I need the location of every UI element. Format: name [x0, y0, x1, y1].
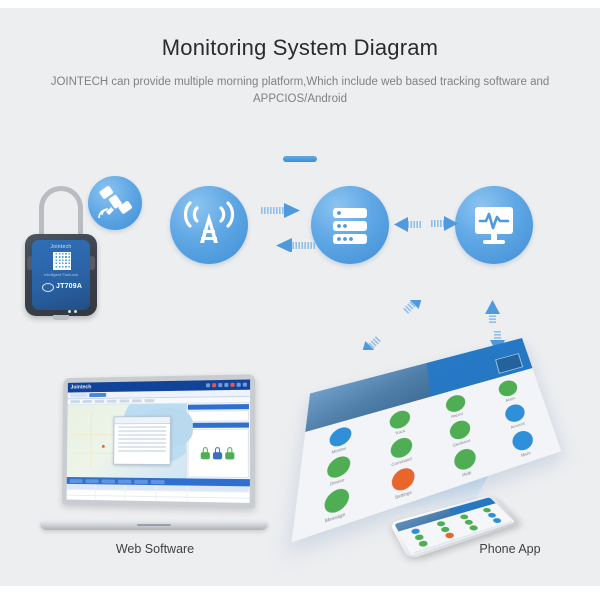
web-software-screen[interactable]: Jointech — [67, 379, 250, 502]
page-title: Monitoring System Diagram — [0, 35, 600, 61]
app-menu-icon — [510, 429, 535, 454]
padlock-base — [53, 315, 69, 320]
arrow-gsm-server-pair — [258, 200, 318, 252]
webapp-logo: Jointech — [71, 384, 92, 390]
app-menu-icon — [326, 454, 350, 481]
laptop-lid: Jointech — [62, 374, 255, 508]
status-sidebar[interactable] — [185, 403, 250, 479]
app-menu-label: Help — [462, 470, 472, 478]
node-monitor-center[interactable]: Monitor Center — [455, 186, 533, 264]
webapp-main-area — [67, 403, 250, 479]
wireless-icon — [42, 283, 54, 292]
app-menu-label: Message — [325, 512, 346, 524]
web-software-laptop: Jointech — [40, 376, 268, 534]
webapp-toolbar-icons[interactable] — [206, 383, 247, 388]
map-panel[interactable] — [67, 404, 186, 479]
app-menu-label: Report — [451, 412, 463, 419]
satellite-icon — [88, 176, 142, 230]
app-menu-label: Alarm — [505, 396, 516, 402]
node-gsm-3g[interactable]: GSM/3G — [170, 186, 248, 264]
arrow-server-monitor-pair — [392, 213, 460, 239]
app-menu-icon — [496, 379, 518, 399]
caption-web-software: Web Software — [75, 542, 235, 556]
device-model-label: JT709A — [56, 283, 82, 290]
app-menu-icon — [444, 393, 466, 414]
phone-app-projection: MonitorTrackReportAlarmDeviceCommandGeof… — [322, 338, 536, 508]
device-description-label: Intelligent PadLock — [32, 272, 90, 277]
laptop-base — [40, 521, 268, 530]
app-menu-label: Account — [510, 421, 525, 429]
phone-menu-icon[interactable] — [444, 532, 455, 539]
padlock-body: Jointech Intelligent PadLock JT709A — [25, 234, 97, 316]
divider-dash-icon — [283, 156, 317, 162]
app-menu-label: Monitor — [331, 446, 346, 455]
diagram-canvas: Monitoring System Diagram JOINTECH can p… — [0, 8, 600, 586]
phone-menu-icon[interactable] — [468, 524, 479, 531]
phone-menu-icon[interactable] — [491, 517, 502, 523]
device-brand-label: Jointech — [32, 244, 90, 250]
phone-menu-icon[interactable] — [418, 540, 429, 548]
app-menu-label: Geofence — [452, 438, 471, 448]
node-server[interactable]: Server — [311, 186, 389, 264]
app-hero-thumbnail — [495, 353, 523, 374]
lock-status-icon — [213, 447, 222, 459]
caption-phone-app: Phone App — [455, 542, 565, 556]
vehicle-info-popup[interactable] — [113, 416, 170, 466]
device-led-indicators — [68, 300, 80, 318]
app-menu-label: More — [521, 451, 531, 459]
app-menu-icon — [389, 409, 410, 432]
page-subtitle: JOINTECH can provide multiple morning pl… — [50, 74, 550, 108]
app-menu-label: Device — [330, 477, 345, 487]
app-menu-icon — [452, 446, 476, 472]
lock-status-panel — [187, 429, 249, 478]
padlock-face: Jointech Intelligent PadLock JT709A — [32, 240, 90, 310]
app-menu-label: Track — [395, 429, 405, 436]
unlock-status-icon — [201, 447, 210, 459]
app-menu-icon — [328, 425, 351, 449]
battery-status-icon — [226, 447, 235, 459]
qr-code-icon — [53, 252, 71, 270]
records-table[interactable] — [67, 484, 250, 503]
